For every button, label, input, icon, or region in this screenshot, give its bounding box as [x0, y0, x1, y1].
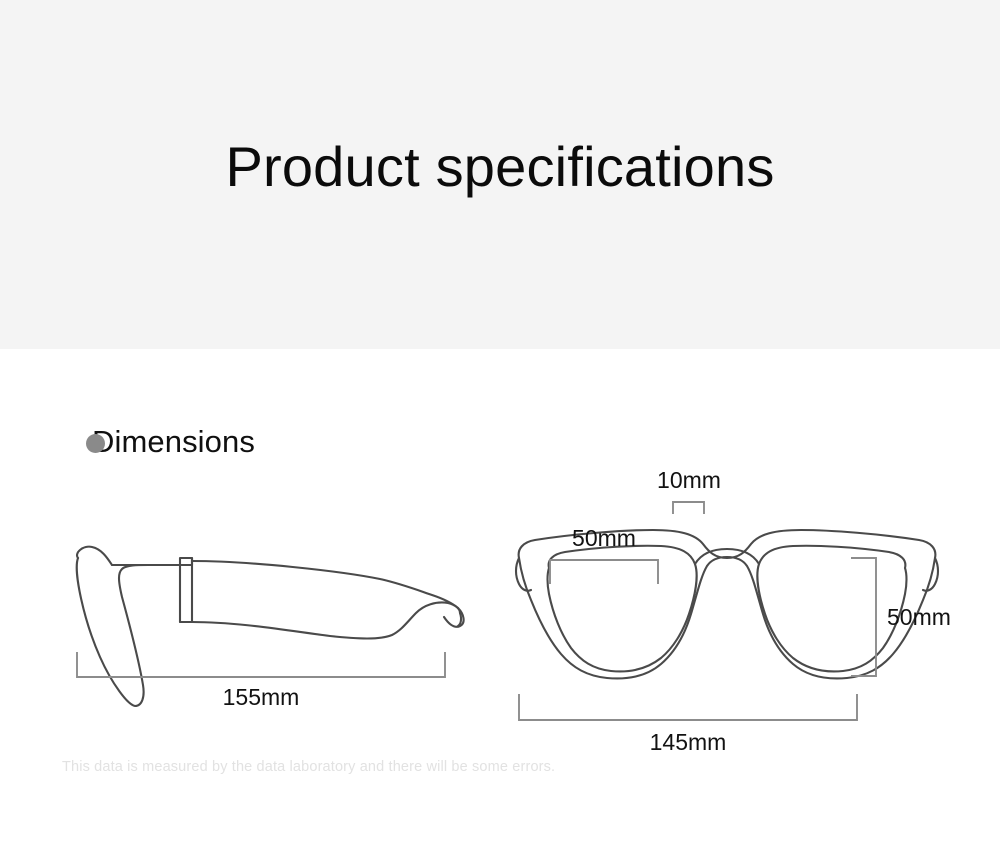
- cursor-pointer-dot: [86, 434, 105, 453]
- dimension-label-frame-width: 145mm: [650, 729, 727, 755]
- dimension-label-lens-height: 50mm: [887, 604, 951, 630]
- dimension-label-bridge-width: 10mm: [657, 467, 721, 493]
- measurement-disclaimer: This data is measured by the data labora…: [62, 759, 555, 775]
- content-area: Dimensions 155mm: [0, 349, 1000, 857]
- side-view-diagram: 155mm: [40, 509, 480, 739]
- front-view-diagram: 50mm 10mm 50mm 145mm: [495, 454, 965, 754]
- section-heading-dimensions: Dimensions: [92, 424, 255, 460]
- dimension-label-lens-width: 50mm: [572, 525, 636, 551]
- page-title: Product specifications: [0, 133, 1000, 200]
- header-band: Product specifications: [0, 0, 1000, 349]
- dimension-label-temple-length: 155mm: [223, 684, 300, 710]
